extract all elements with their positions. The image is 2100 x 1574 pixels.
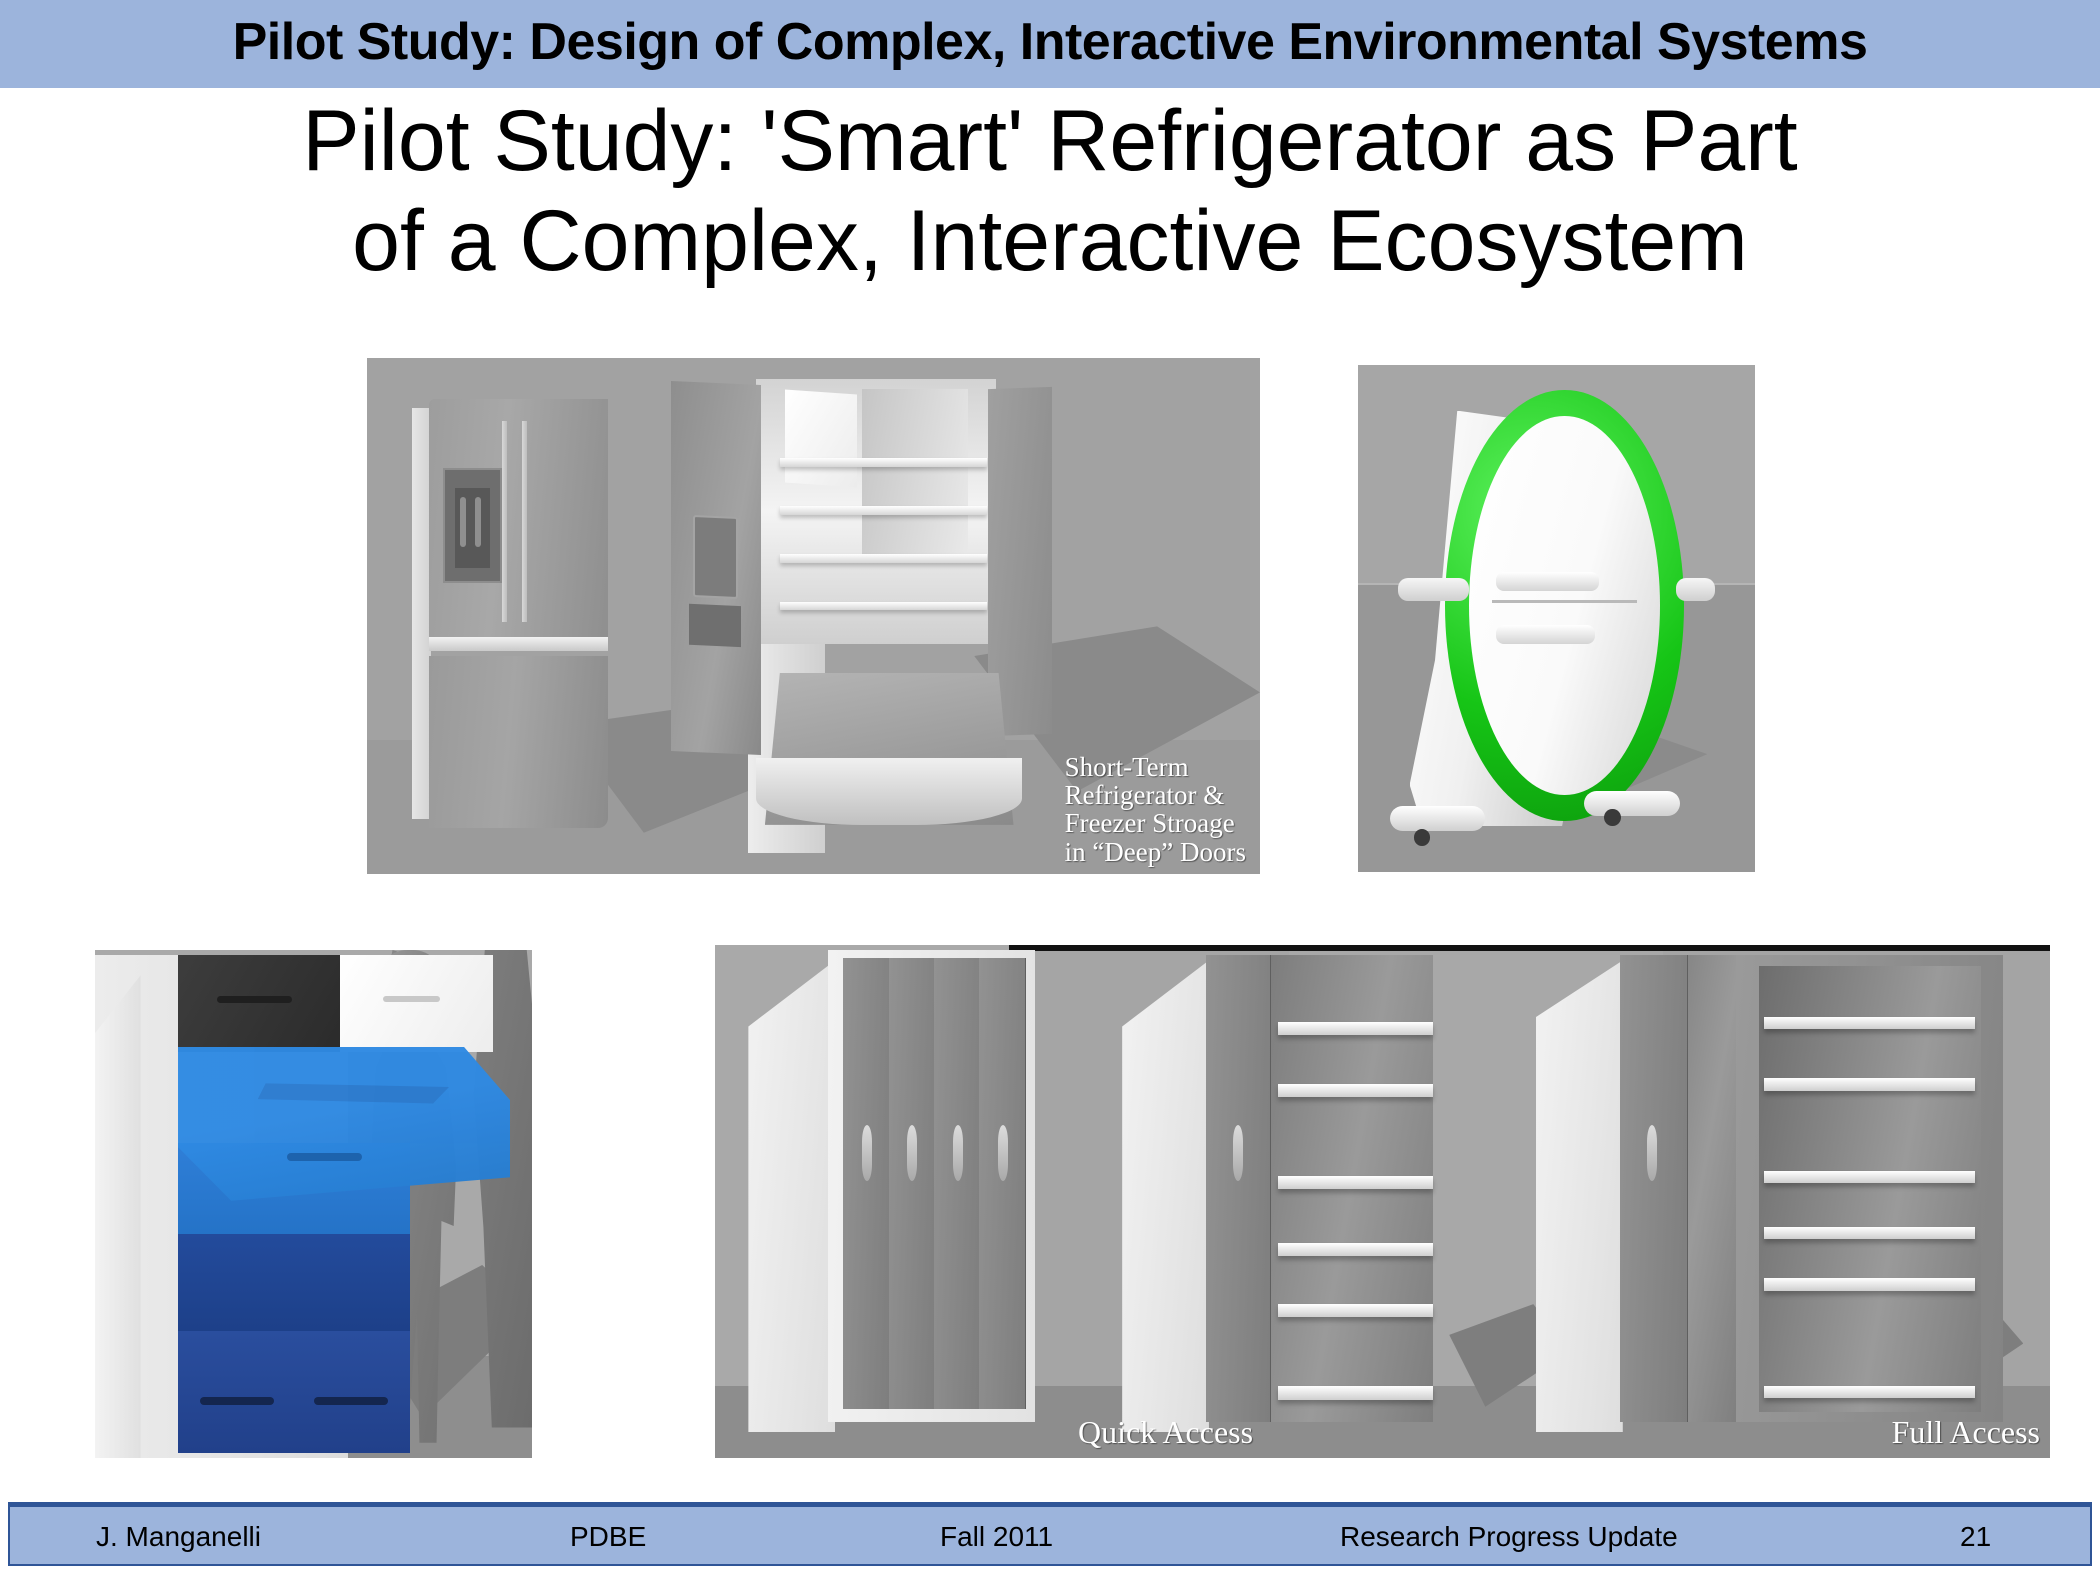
figure-green-oval-refrigerator <box>1358 365 1755 872</box>
cabinet-c-door[interactable] <box>1620 955 1688 1422</box>
water-dispenser <box>443 468 502 583</box>
cabinet-c-shelf-3 <box>1764 1171 1975 1183</box>
page-title-line-1: Pilot Study: 'Smart' Refrigerator as Par… <box>50 92 2050 192</box>
cabinet-b-shelf-4 <box>1278 1243 1433 1256</box>
blue-drawer-front-bottom-right[interactable] <box>292 1331 410 1453</box>
open-blue-drawer-interior <box>258 1083 457 1103</box>
cabinet-a-door-3[interactable] <box>934 958 980 1409</box>
cabinet-b-shelf-6 <box>1278 1386 1433 1399</box>
open-freezer-drawer-front <box>756 758 1022 824</box>
oval-refrigerator-foot-left <box>1390 806 1485 831</box>
white-drawer-front[interactable] <box>340 955 493 1052</box>
cabinet-c-shelf-2 <box>1764 1078 1975 1090</box>
cabinet-c-shelf-1 <box>1764 1017 1975 1029</box>
caster-right <box>1604 809 1621 826</box>
interior-shelf-1 <box>780 458 986 467</box>
blue-drawer-front-lower[interactable] <box>178 1234 410 1331</box>
footer-course: PDBE <box>570 1521 646 1553</box>
open-refrigerator-interior <box>756 379 996 645</box>
oval-door-handle-upper[interactable] <box>1496 572 1599 591</box>
slide-footer-band: J. Manganelli PDBE Fall 2011 Research Pr… <box>8 1502 2092 1566</box>
oval-refrigerator-door <box>1469 416 1660 795</box>
oval-door-seam <box>1492 600 1637 603</box>
white-drawer-handle[interactable] <box>383 996 440 1003</box>
cabinet-a-door-2[interactable] <box>889 958 935 1409</box>
cabinet-b-side-panel <box>1122 960 1209 1432</box>
bottom-right-drawer-handle[interactable] <box>314 1397 388 1405</box>
blue-drawer-front-bottom-left[interactable] <box>178 1331 292 1453</box>
cabinet-a-handle-3[interactable] <box>953 1125 963 1181</box>
interior-shelf-2 <box>780 506 986 515</box>
figure-blue-drawer-unit <box>95 950 532 1458</box>
figure4-caption-full-access: Full Access <box>1892 1416 2040 1450</box>
cabinet-c-side-panel <box>1536 960 1623 1432</box>
cabinet-a-handle-1[interactable] <box>862 1125 872 1181</box>
cabinet-a-handle-2[interactable] <box>907 1125 917 1181</box>
closed-refrigerator-freezer-drawer <box>429 656 608 827</box>
cabinet-a-side-panel <box>748 960 835 1432</box>
figure1-caption-line-1: Short-Term <box>1065 753 1246 781</box>
slide-header-band: Pilot Study: Design of Complex, Interact… <box>0 0 2100 88</box>
oval-refrigerator-side-grab-left[interactable] <box>1398 578 1469 601</box>
open-refrigerator-left-door <box>671 381 761 755</box>
cabinet-a-handle-4[interactable] <box>998 1125 1008 1181</box>
cabinet-b-sliding-door[interactable] <box>1206 955 1271 1422</box>
cabinet-b-shelf-2 <box>1278 1084 1433 1097</box>
figure4-top-divider <box>1009 945 2050 951</box>
cabinet-b-shelf-5 <box>1278 1304 1433 1317</box>
figure1-caption-line-2: Refrigerator & <box>1065 781 1246 809</box>
closed-refrigerator <box>412 399 608 827</box>
bottom-left-drawer-handle[interactable] <box>200 1397 274 1405</box>
left-door-dispenser <box>692 516 737 600</box>
interior-shelf-3 <box>780 554 986 563</box>
closed-refrigerator-handle-left <box>502 421 507 622</box>
cabinet-a-door-4[interactable] <box>979 958 1025 1409</box>
figure-refrigerator-renders: Short-Term Refrigerator & Freezer Stroag… <box>367 358 1260 874</box>
figure-cabinet-access-renders: Quick Access Full Access <box>715 945 2050 1458</box>
figure1-caption: Short-Term Refrigerator & Freezer Stroag… <box>1065 753 1246 866</box>
page-title-line-2: of a Complex, Interactive Ecosystem <box>50 192 2050 292</box>
oval-door-handle-lower[interactable] <box>1496 625 1595 644</box>
cabinet-c-shelf-5 <box>1764 1278 1975 1290</box>
cabinet-b-shelf-1 <box>1278 1022 1433 1035</box>
dark-drawer-handle[interactable] <box>217 996 291 1004</box>
interior-shelf-4 <box>780 602 986 611</box>
cabinet-b-handle[interactable] <box>1233 1125 1243 1181</box>
cabinet-c-handle[interactable] <box>1647 1125 1657 1181</box>
cabinet-c-shelf-4 <box>1764 1227 1975 1239</box>
figure1-caption-line-4: in “Deep” Doors <box>1065 838 1246 866</box>
left-door-tray <box>689 604 741 647</box>
closed-refrigerator-handle-right <box>522 421 527 622</box>
figure1-caption-line-3: Freezer Stroage <box>1065 809 1246 837</box>
footer-term: Fall 2011 <box>940 1521 1053 1553</box>
cabinet-c-shelf-6 <box>1764 1386 1975 1398</box>
header-title: Pilot Study: Design of Complex, Interact… <box>233 16 1868 68</box>
footer-page-number: 21 <box>1960 1521 1991 1553</box>
dispenser-lever-right <box>475 497 481 547</box>
open-blue-drawer-handle[interactable] <box>287 1153 361 1161</box>
open-refrigerator <box>671 379 1100 854</box>
cabinet-b-shelf-3 <box>1278 1176 1433 1189</box>
cabinet-a-door-1[interactable] <box>843 958 889 1409</box>
interior-door-bin-panel <box>785 389 857 487</box>
footer-description: Research Progress Update <box>1340 1521 1678 1553</box>
dispenser-lever-left <box>460 497 466 547</box>
cabinet-c-rack-interior <box>1759 966 1981 1412</box>
dark-drawer-front[interactable] <box>178 955 340 1052</box>
closed-refrigerator-mid-trim <box>429 637 608 651</box>
footer-author: J. Manganelli <box>96 1521 261 1553</box>
oval-refrigerator-foot-right <box>1584 791 1679 816</box>
interior-back-wall <box>862 389 968 554</box>
water-dispenser-recess <box>455 488 490 568</box>
cabinet-side-panel <box>95 975 141 1458</box>
page-title: Pilot Study: 'Smart' Refrigerator as Par… <box>50 92 2050 292</box>
figure4-caption-quick-access: Quick Access <box>1078 1416 1253 1450</box>
oval-refrigerator-side-grab-right[interactable] <box>1676 578 1716 601</box>
oval-refrigerator-green-ring <box>1445 390 1683 821</box>
